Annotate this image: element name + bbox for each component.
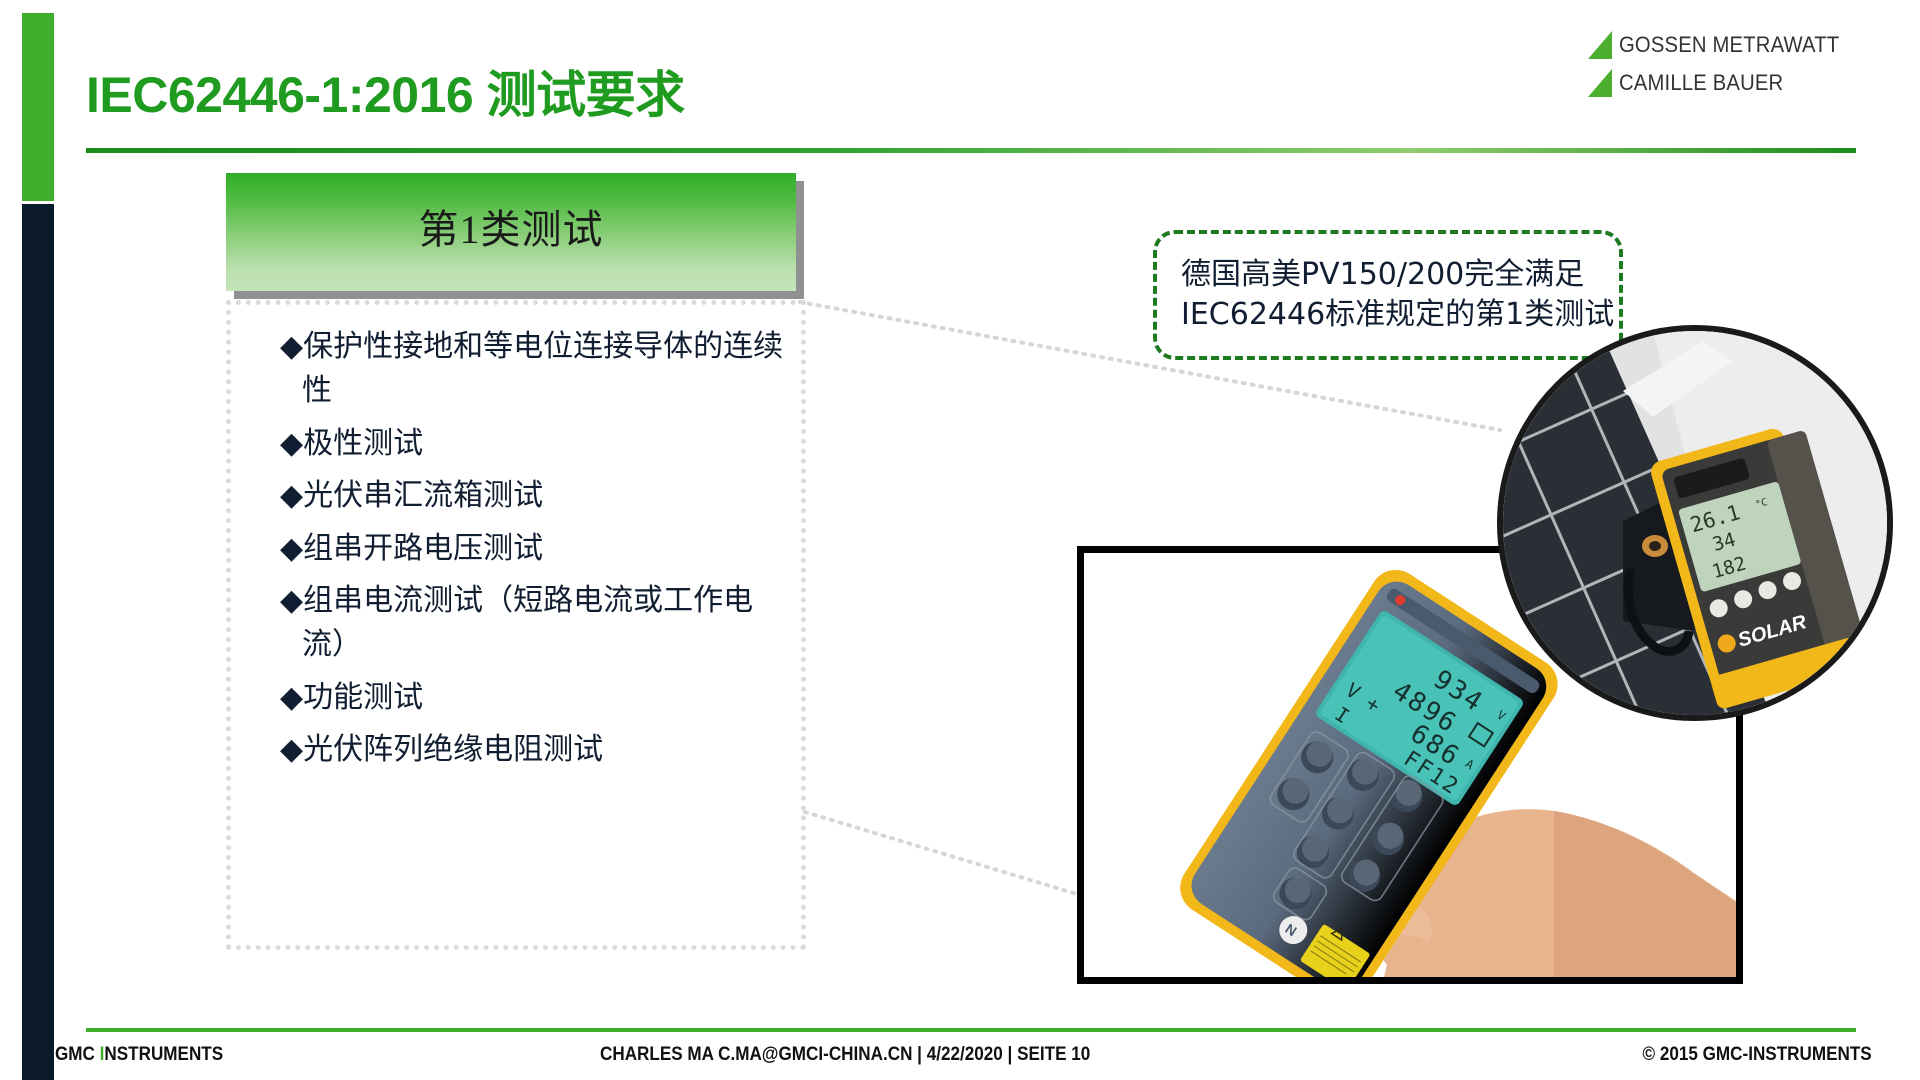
footer-brand-prefix: GMC: [55, 1044, 100, 1065]
callout-line-1: 德国高美PV150/200完全满足: [1181, 255, 1614, 295]
brand-logo: GOSSEN METRAWATT CAMILLE BAUER: [1588, 30, 1859, 106]
photo-solar-panel-inset: 26.1 °C 34 182 SOLAR: [1497, 325, 1893, 721]
callout-line-2: IEC62446标准规定的第1类测试: [1181, 295, 1614, 335]
category-box: 第1类测试: [226, 173, 796, 291]
brand-label-camille: CAMILLE BAUER: [1619, 70, 1783, 96]
list-item: ◆功能测试: [280, 676, 790, 720]
left-accent-bar-green: [22, 13, 54, 201]
slide-root: GOSSEN METRAWATT CAMILLE BAUER IEC62446-…: [0, 0, 1920, 1080]
solar-inset-illustration: 26.1 °C 34 182 SOLAR: [1503, 331, 1887, 715]
category-box-label: 第1类测试: [419, 197, 604, 255]
footer-presenter-info: CHARLES MA C.MA@GMCI-CHINA.CN | 4/22/202…: [600, 1044, 1090, 1066]
footer-copyright: © 2015 GMC-INSTRUMENTS: [1643, 1044, 1872, 1066]
list-item: ◆组串开路电压测试: [280, 527, 790, 571]
page-title: IEC62446-1:2016 测试要求: [86, 55, 685, 127]
left-accent-bar-dark: [22, 204, 54, 1080]
callout-box: 德国高美PV150/200完全满足 IEC62446标准规定的第1类测试: [1153, 230, 1623, 360]
list-item: ◆组串电流测试（短路电流或工作电流）: [280, 579, 790, 668]
list-item: ◆极性测试: [280, 422, 790, 466]
callout-text: 德国高美PV150/200完全满足 IEC62446标准规定的第1类测试: [1157, 255, 1614, 335]
footer-brand-suffix: NSTRUMENTS: [104, 1044, 223, 1065]
footer-brand: GMC INSTRUMENTS: [55, 1044, 223, 1066]
brand-label-gossen: GOSSEN METRAWATT: [1619, 32, 1839, 58]
triangle-icon: [1588, 31, 1612, 59]
bullet-list: ◆保护性接地和等电位连接导体的连续性 ◆极性测试 ◆光伏串汇流箱测试 ◆组串开路…: [280, 325, 790, 781]
list-item: ◆光伏串汇流箱测试: [280, 474, 790, 518]
triangle-icon: [1588, 69, 1612, 97]
list-item: ◆保护性接地和等电位连接导体的连续性: [280, 325, 790, 414]
brand-row-gossen: GOSSEN METRAWATT: [1588, 30, 1859, 60]
title-underline: [86, 148, 1856, 153]
list-item: ◆光伏阵列绝缘电阻测试: [280, 728, 790, 772]
brand-row-camille: CAMILLE BAUER: [1588, 68, 1859, 98]
footer-rule: [86, 1028, 1856, 1032]
